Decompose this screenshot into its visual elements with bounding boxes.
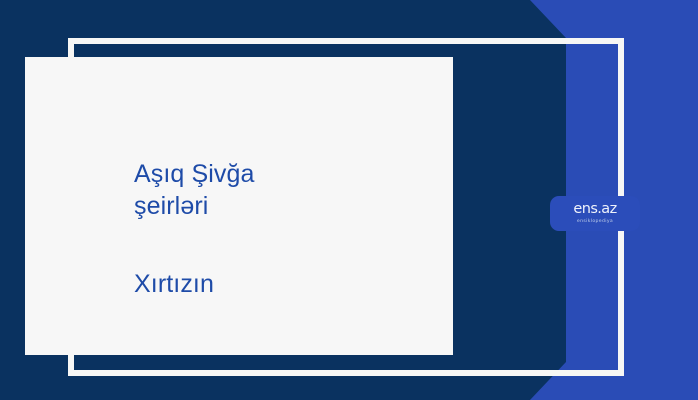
- page-title: Aşıq Şivğa şeirləri: [134, 158, 434, 222]
- logo-wordmark: ens.az: [573, 202, 616, 217]
- logo-tagline: ensiklopediya: [577, 218, 613, 225]
- slide-canvas: Aşıq Şivğa şeirləri Xırtızın ens.az ensi…: [0, 0, 698, 400]
- ens-az-logo-badge[interactable]: ens.az ensiklopediya: [550, 196, 640, 231]
- text-block: Aşıq Şivğa şeirləri Xırtızın: [134, 158, 434, 300]
- page-subtitle: Xırtızın: [134, 268, 434, 300]
